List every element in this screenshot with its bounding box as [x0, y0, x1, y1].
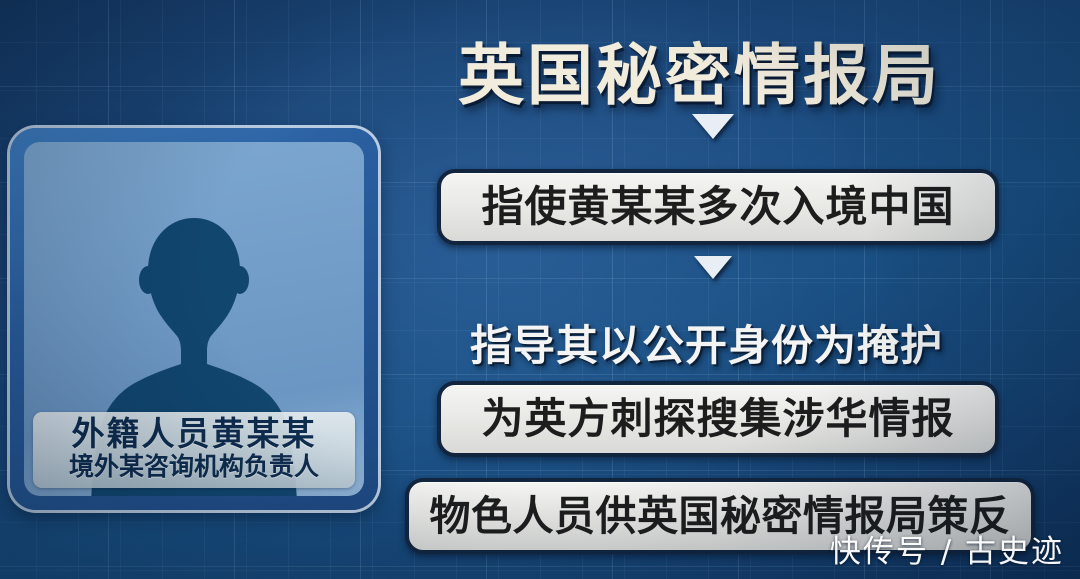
portrait-caption-name: 外籍人员黄某某 — [39, 416, 349, 453]
flow-step-3-label: 为英方刺探搜集涉华情报 — [481, 398, 954, 440]
chevron-down-triangle-icon — [692, 114, 734, 139]
flow-step-2-heading: 指导其以公开身份为掩护 — [470, 312, 943, 373]
flow-step-3: 为英方刺探搜集涉华情报 — [437, 381, 999, 457]
chevron-down-triangle-icon — [694, 256, 732, 279]
broadcast-graphic-stage: 外籍人员黄某某 境外某咨询机构负责人 英国秘密情报局 指使黄某某多次入境中国 指… — [0, 0, 1080, 579]
portrait-photo-area: 外籍人员黄某某 境外某咨询机构负责人 — [24, 142, 364, 496]
watermark: 快传号 / 古史迹 — [830, 526, 1064, 571]
flow-step-1-label: 指使黄某某多次入境中国 — [481, 186, 954, 228]
portrait-caption-block: 外籍人员黄某某 境外某咨询机构负责人 — [33, 412, 355, 488]
page-title: 英国秘密情报局 — [458, 22, 941, 118]
flow-step-1: 指使黄某某多次入境中国 — [437, 169, 999, 245]
portrait-caption-role: 境外某咨询机构负责人 — [39, 453, 349, 482]
portrait-panel: 外籍人员黄某某 境外某咨询机构负责人 — [10, 128, 378, 510]
